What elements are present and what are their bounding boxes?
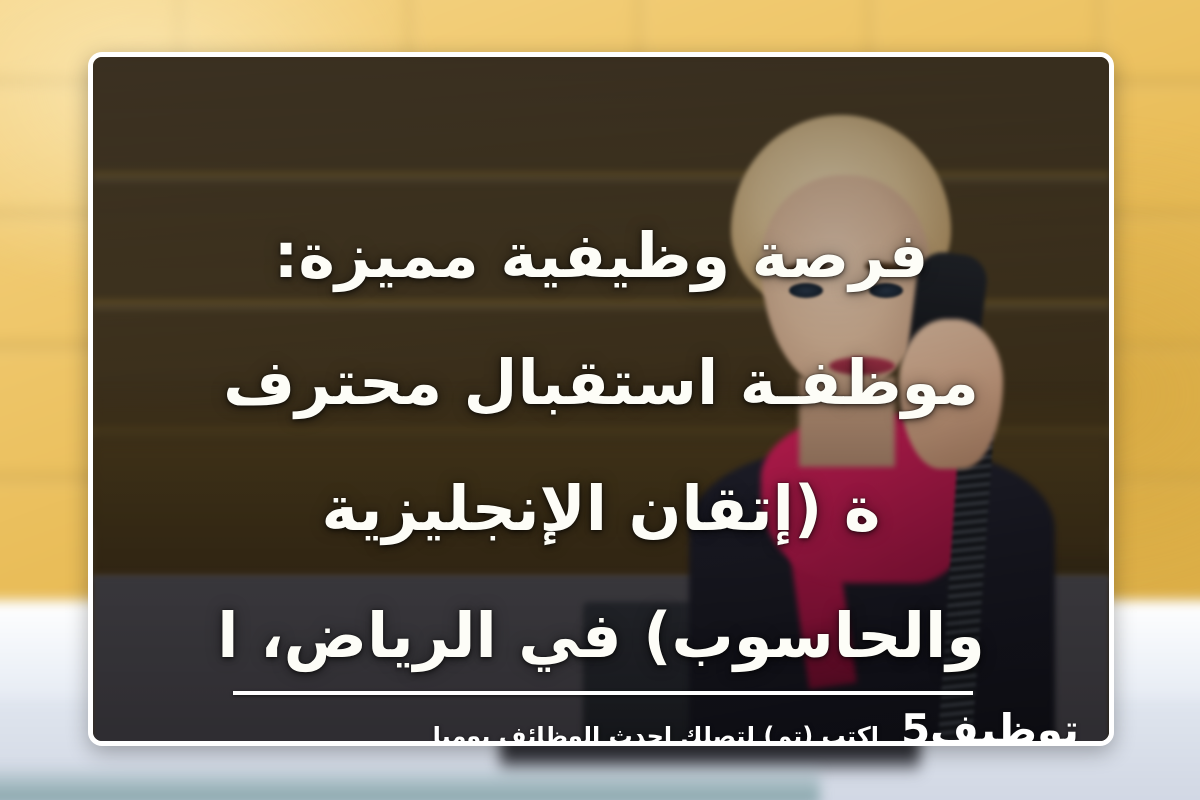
background-desk-edge [0,765,820,800]
screenshot-stage: فرصة وظيفية مميزة: موظفـة استقبال محترف … [0,0,1200,800]
card-photo [93,57,1109,741]
job-ad-card: فرصة وظيفية مميزة: موظفـة استقبال محترف … [88,52,1114,746]
receptionist-lips [829,357,895,375]
receptionist-eye-left [789,283,823,298]
receptionist-hand [899,319,1003,469]
photo-receptionist [93,57,1109,741]
receptionist-eye-right [869,283,903,298]
footer-divider [233,691,973,695]
